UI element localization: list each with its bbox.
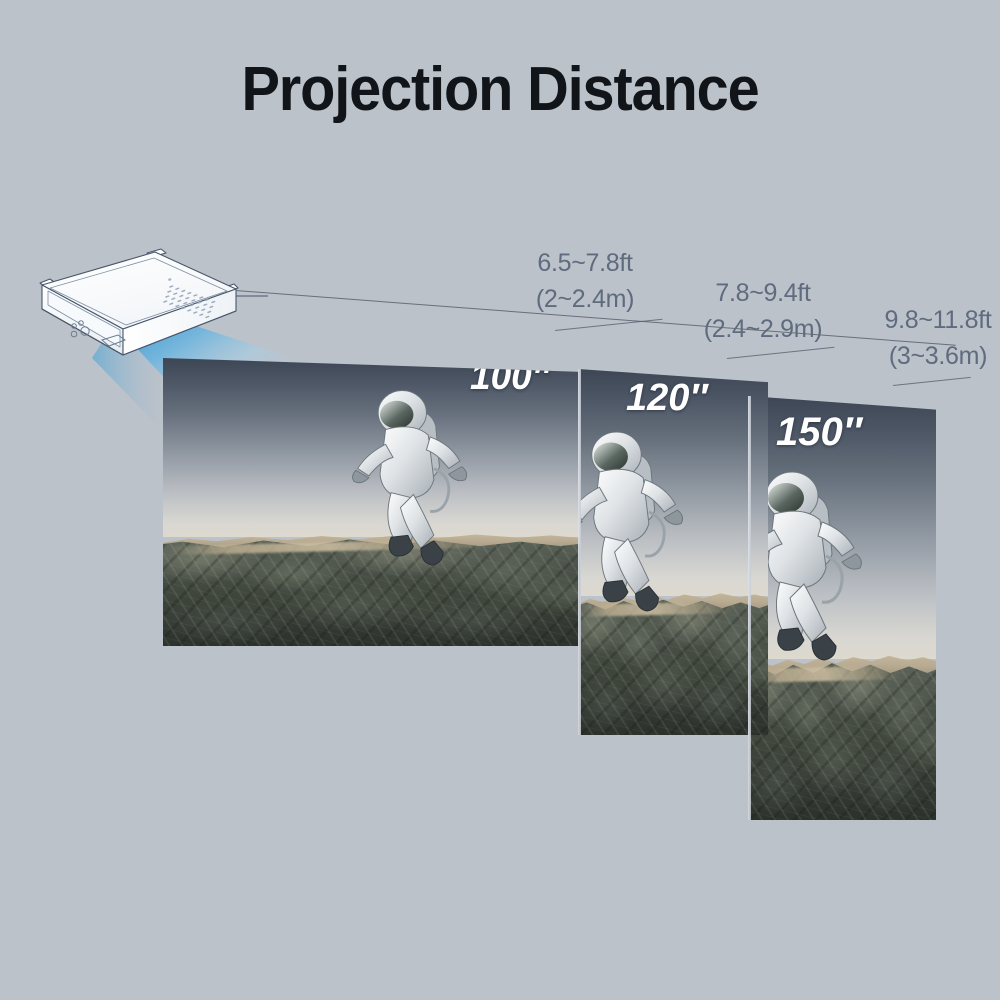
screen-100-artwork [163,358,580,646]
distance-feet-100: 6.5~7.8ft [490,246,680,282]
measure-tick-150 [893,377,971,386]
projector-illustration [18,243,268,373]
distance-label-150: 9.8~11.8ft (3~3.6m) [838,303,1000,374]
screen-120-artwork [578,369,768,735]
distance-meters-150: (3~3.6m) [838,339,1000,375]
screen-100: 100″ [163,358,580,646]
page-title: Projection Distance [35,54,965,125]
distance-feet-120: 7.8~9.4ft [663,276,863,312]
screen-150: 150″ [748,396,936,820]
distance-label-100: 6.5~7.8ft (2~2.4m) [490,246,680,317]
distance-meters-100: (2~2.4m) [490,282,680,318]
astronaut-figure [335,372,490,604]
projection-distance-infographic: Projection Distance 6.5~7.8ft (2~2.4m) 7… [0,0,1000,1000]
screen-150-left-edge [748,396,751,820]
size-badge-100: 100″ [470,358,549,398]
size-badge-120: 120″ [626,377,708,420]
distance-feet-150: 9.8~11.8ft [838,303,1000,339]
distance-meters-120: (2.4~2.9m) [663,312,863,348]
screen-120: 120″ [578,369,768,735]
screen-150-artwork [748,396,936,820]
measure-tick-100 [555,319,663,331]
size-badge-150: 150″ [776,410,862,455]
distance-label-120: 7.8~9.4ft (2.4~2.9m) [663,276,863,347]
astronaut-figure [578,413,690,651]
measure-tick-120 [727,347,835,359]
screen-120-left-edge [578,369,581,735]
